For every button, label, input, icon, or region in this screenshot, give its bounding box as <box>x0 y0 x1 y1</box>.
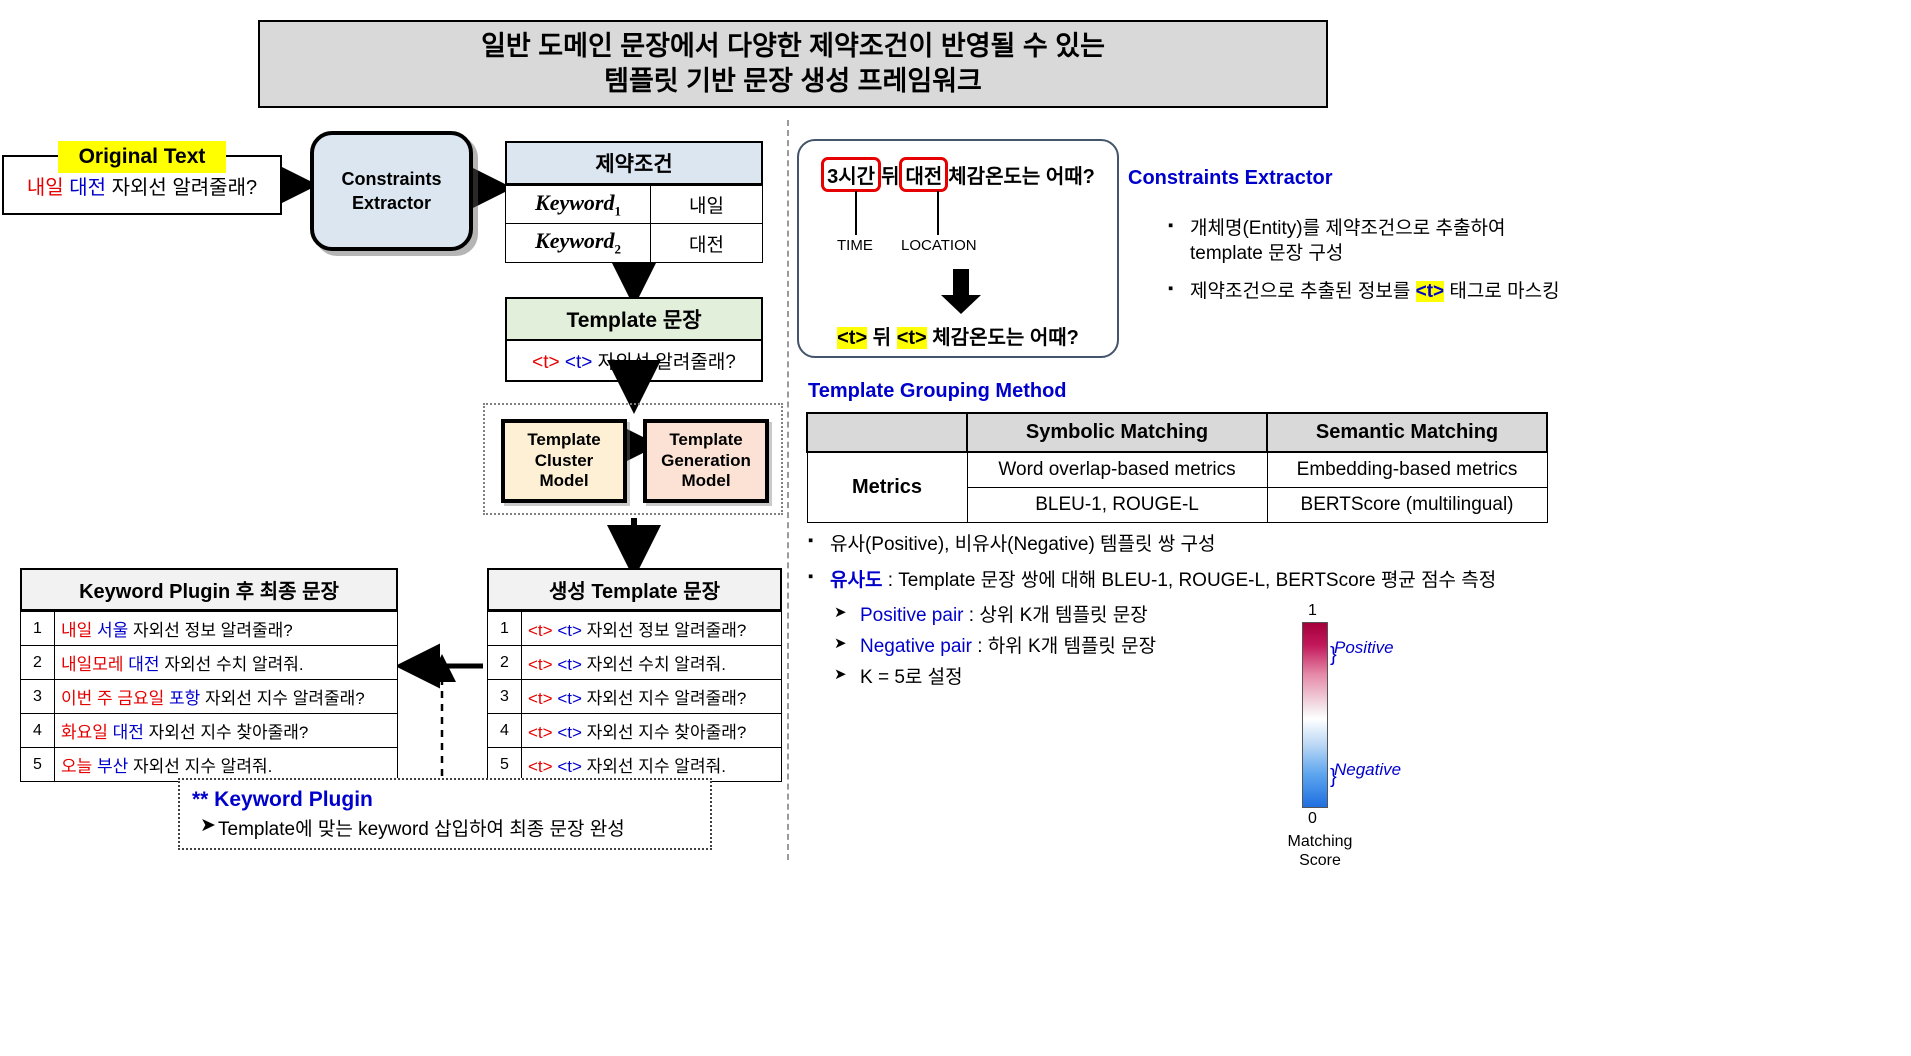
vertical-divider <box>787 120 789 860</box>
row-number: 5 <box>21 748 55 782</box>
constraints-table: 제약조건 Keyword1 내일 Keyword2 대전 <box>505 141 763 263</box>
row-text: 내일모레 대전 자외선 수치 알려줘. <box>55 646 398 680</box>
table-row: 1 <t> <t> 자외선 정보 알려줄래? <box>488 612 782 646</box>
constraints-extractor-bullets: 개체명(Entity)를 제약조건으로 추출하여 template 문장 구성 … <box>1128 217 1588 319</box>
grouping-col-symbolic: Symbolic Matching <box>967 413 1267 452</box>
extractor-example-box: 3시간뒤대전체감온도는 어때? TIME LOCATION <t> 뒤 <t> … <box>797 139 1119 358</box>
row-text: <t> <t> 자외선 수치 알려줘. <box>522 646 782 680</box>
list-item: 제약조건으로 추출된 정보를 <t> 태그로 마스킹 <box>1168 280 1588 305</box>
constraints-table-header: 제약조건 <box>505 141 763 185</box>
table-row: 5 <t> <t> 자외선 지수 알려줘. <box>488 748 782 782</box>
row-text: 내일 서울 자외선 정보 알려줄래? <box>55 612 398 646</box>
leader-line-time <box>855 191 857 235</box>
cluster-l1: Template <box>527 430 600 450</box>
row-text: <t> <t> 자외선 지수 알려줄래? <box>522 680 782 714</box>
generation-l2: Generation <box>661 451 751 471</box>
row-number: 1 <box>488 612 522 646</box>
table-row: 2 <t> <t> 자외선 수치 알려줘. <box>488 646 782 680</box>
row-text: <t> <t> 자외선 정보 알려줄래? <box>522 612 782 646</box>
generation-l3: Model <box>661 471 751 491</box>
grouping-cell-0-1: Embedding-based metrics <box>1267 452 1547 488</box>
grouping-cell-1-0: BLEU-1, ROUGE-L <box>967 488 1267 523</box>
table-row: 2 내일모레 대전 자외선 수치 알려줘. <box>21 646 398 680</box>
masked-sentence: <t> 뒤 <t> 체감온도는 어때? <box>799 321 1117 350</box>
list-item: 유사도 : Template 문장 쌍에 대해 BLEU-1, ROUGE-L,… <box>806 568 1576 594</box>
row-text: 이번 주 금요일 포항 자외선 지수 알려줄래? <box>55 680 398 714</box>
grouping-row-label: Metrics <box>807 452 967 523</box>
example-mid: 뒤 <box>881 166 899 188</box>
template-grouping-table: Symbolic Matching Semantic Matching Metr… <box>806 412 1548 523</box>
list-item: 유사(Positive), 비유사(Negative) 템플릿 쌍 구성 <box>806 532 1576 558</box>
constraints-key-1: Keyword1 <box>506 186 651 224</box>
title-banner: 일반 도메인 문장에서 다양한 제약조건이 반영될 수 있는 템플릿 기반 문장… <box>258 20 1328 108</box>
example-sentence: 3시간뒤대전체감온도는 어때? <box>799 157 1117 192</box>
colorbar-top-value: 1 <box>1308 602 1317 620</box>
entity-time: 3시간 <box>821 157 881 192</box>
template-sentence-box: Template 문장 <t> <t> 자외선 알려줄래? <box>505 297 763 382</box>
masked-tag-2: <t> <box>897 327 927 349</box>
template-generation-model: Template Generation Model <box>643 419 769 503</box>
row-text: 화요일 대전 자외선 지수 찾아줄래? <box>55 714 398 748</box>
constraints-value-1: 내일 <box>651 186 763 224</box>
template-sentence-header: Template 문장 <box>505 297 763 341</box>
masked-tag-1: <t> <box>837 327 867 349</box>
leader-line-location <box>937 191 939 235</box>
constraints-key-2: Keyword2 <box>506 224 651 262</box>
table-row: 3 <t> <t> 자외선 지수 알려줄래? <box>488 680 782 714</box>
table-row: Metrics Word overlap-based metrics Embed… <box>807 452 1547 488</box>
masked-tail: 체감온도는 어때? <box>932 327 1079 349</box>
row-number: 5 <box>488 748 522 782</box>
generated-template-table: 생성 Template 문장 1 <t> <t> 자외선 정보 알려줄래? 2 … <box>487 568 782 782</box>
list-item: 개체명(Entity)를 제약조건으로 추출하여 template 문장 구성 <box>1168 217 1588 266</box>
colorbar-caption: Matching Score <box>1274 832 1366 870</box>
masked-mid: 뒤 <box>873 327 891 349</box>
template-tag-2: <t> <box>565 352 592 373</box>
row-number: 4 <box>21 714 55 748</box>
grouping-col-blank <box>807 413 967 452</box>
masking-tag: <t> <box>1416 281 1445 302</box>
down-arrow-icon <box>939 269 983 315</box>
original-text-red: 내일 <box>27 171 64 200</box>
list-item: K = 5로 설정 <box>806 665 1576 691</box>
example-tail: 체감온도는 어때? <box>948 166 1095 188</box>
colorbar-bottom-value: 0 <box>1308 810 1317 828</box>
colorbar-gradient <box>1302 622 1328 808</box>
template-tag-1: <t> <box>532 352 559 373</box>
template-rest: 자외선 알려줄래? <box>598 352 736 373</box>
original-text-blue: 대전 <box>69 171 106 200</box>
row-text: 오늘 부산 자외선 지수 알려줘. <box>55 748 398 782</box>
cluster-l3: Model <box>527 471 600 491</box>
table-row: 5 오늘 부산 자외선 지수 알려줘. <box>21 748 398 782</box>
right-bullets: 유사(Positive), 비유사(Negative) 템플릿 쌍 구성 유사도… <box>806 532 1576 695</box>
final-sentence-table: Keyword Plugin 후 최종 문장 1 내일 서울 자외선 정보 알려… <box>20 568 398 782</box>
table-row: Keyword1 내일 <box>506 186 763 224</box>
title-line-2: 템플릿 기반 문장 생성 프레임워크 <box>604 64 982 99</box>
cluster-l2: Cluster <box>527 451 600 471</box>
row-number: 3 <box>488 680 522 714</box>
table-row: 4 화요일 대전 자외선 지수 찾아줄래? <box>21 714 398 748</box>
entity-label-location: LOCATION <box>901 237 977 254</box>
models-container: Template Cluster Model Template Generati… <box>483 403 783 515</box>
keyword-plugin-body: ➤ Template에 맞는 keyword 삽입하여 최종 문장 완성 <box>192 814 698 841</box>
row-number: 1 <box>21 612 55 646</box>
original-text-label: Original Text <box>58 141 226 173</box>
keyword-plugin-note: ** Keyword Plugin ➤ Template에 맞는 keyword… <box>178 778 712 850</box>
constraints-extractor-line2: Extractor <box>352 191 431 215</box>
template-grouping-heading: Template Grouping Method <box>808 380 1067 403</box>
row-number: 2 <box>488 646 522 680</box>
title-line-1: 일반 도메인 문장에서 다양한 제약조건이 반영될 수 있는 <box>481 29 1105 64</box>
generation-l1: Template <box>661 430 751 450</box>
template-cluster-model: Template Cluster Model <box>501 419 627 503</box>
table-row: 3 이번 주 금요일 포항 자외선 지수 알려줄래? <box>21 680 398 714</box>
row-text: <t> <t> 자외선 지수 알려줘. <box>522 748 782 782</box>
grouping-cell-1-1: BERTScore (multilingual) <box>1267 488 1547 523</box>
row-text: <t> <t> 자외선 지수 찾아줄래? <box>522 714 782 748</box>
table-header-row: Symbolic Matching Semantic Matching <box>807 413 1547 452</box>
table-row: Keyword2 대전 <box>506 224 763 262</box>
generated-table-header: 생성 Template 문장 <box>487 568 782 611</box>
constraints-extractor-heading: Constraints Extractor <box>1128 167 1333 190</box>
colorbar-negative-label: Negative <box>1334 760 1401 780</box>
row-number: 4 <box>488 714 522 748</box>
row-number: 3 <box>21 680 55 714</box>
constraints-extractor-node: Constraints Extractor <box>310 131 473 251</box>
grouping-cell-0-0: Word overlap-based metrics <box>967 452 1267 488</box>
list-item: Negative pair : 하위 K개 템플릿 문장 <box>806 634 1576 660</box>
keyword-plugin-title: ** Keyword Plugin <box>192 788 698 812</box>
arrow-bullet-icon: ➤ <box>200 814 216 837</box>
original-text-rest: 자외선 알려줄래? <box>112 171 257 200</box>
list-item: Positive pair : 상위 K개 템플릿 문장 <box>806 603 1576 629</box>
table-row: 4 <t> <t> 자외선 지수 찾아줄래? <box>488 714 782 748</box>
row-number: 2 <box>21 646 55 680</box>
constraints-value-2: 대전 <box>651 224 763 262</box>
template-sentence-body: <t> <t> 자외선 알려줄래? <box>505 341 763 382</box>
colorbar-positive-label: Positive <box>1334 638 1394 658</box>
constraints-extractor-line1: Constraints <box>341 167 441 191</box>
grouping-col-semantic: Semantic Matching <box>1267 413 1547 452</box>
entity-location: 대전 <box>899 157 948 192</box>
table-row: 1 내일 서울 자외선 정보 알려줄래? <box>21 612 398 646</box>
entity-label-time: TIME <box>837 237 873 254</box>
final-table-header: Keyword Plugin 후 최종 문장 <box>20 568 398 611</box>
